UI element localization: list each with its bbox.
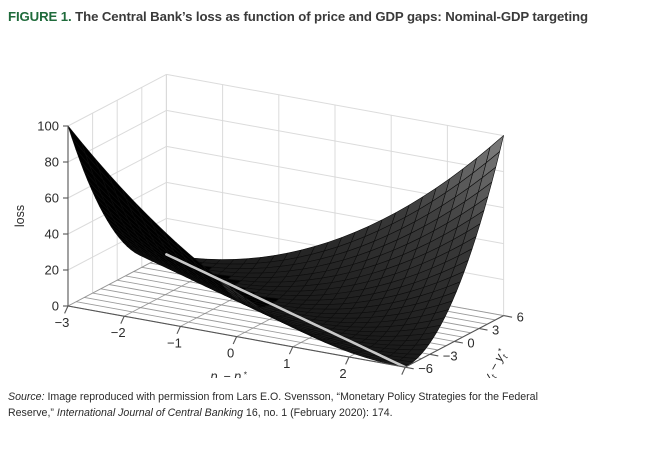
source-lead: Source:	[8, 391, 45, 403]
y-tick-label: 0	[467, 335, 474, 350]
x-tick-label: −1	[167, 335, 182, 350]
figure-title: FIGURE 1. The Central Bank’s loss as fun…	[8, 7, 648, 26]
y-axis-title: yt − yt*	[480, 346, 512, 378]
figure-title-line1: The Central Bank’s loss as function of p…	[75, 9, 441, 24]
y-tick-label: 6	[517, 310, 524, 325]
y-tick-label: −6	[418, 361, 433, 376]
z-tick-label: 100	[37, 119, 59, 134]
z-tick-label: 20	[45, 263, 59, 278]
x-tick-label: 3	[396, 376, 403, 378]
figure-root: FIGURE 1. The Central Bank’s loss as fun…	[0, 0, 672, 457]
surface-plot: 020406080100 −3−2−10123 −6−3036 losspt −…	[0, 48, 672, 378]
z-axis-loss: 020406080100	[37, 119, 68, 314]
surface-plot-svg: 020406080100 −3−2−10123 −6−3036 losspt −…	[0, 48, 672, 378]
source-journal-title: International Journal of Central Banking	[57, 407, 243, 419]
figure-title-line2: Nominal-GDP targeting	[445, 9, 588, 24]
x-tick-label: 1	[283, 356, 290, 371]
z-tick-label: 40	[45, 227, 59, 242]
x-tick-label: 0	[227, 346, 234, 361]
source-text-b: 16, no. 1 (February 2020): 174.	[243, 407, 393, 419]
x-tick-label: −2	[111, 325, 126, 340]
loss-surface-mesh	[68, 126, 504, 367]
x-axis-title: pt − pt*	[209, 369, 247, 378]
y-tick-label: 3	[492, 323, 499, 338]
y-tick-label: −3	[443, 348, 458, 363]
source-note: Source: Image reproduced with permission…	[8, 389, 538, 421]
z-tick-label: 80	[45, 155, 59, 170]
figure-number-label: FIGURE 1.	[8, 9, 72, 24]
z-tick-label: 0	[52, 299, 59, 314]
z-axis-title: loss	[13, 205, 27, 227]
z-tick-label: 60	[45, 191, 59, 206]
x-tick-label: 2	[339, 366, 346, 378]
x-tick-label: −3	[55, 315, 70, 330]
